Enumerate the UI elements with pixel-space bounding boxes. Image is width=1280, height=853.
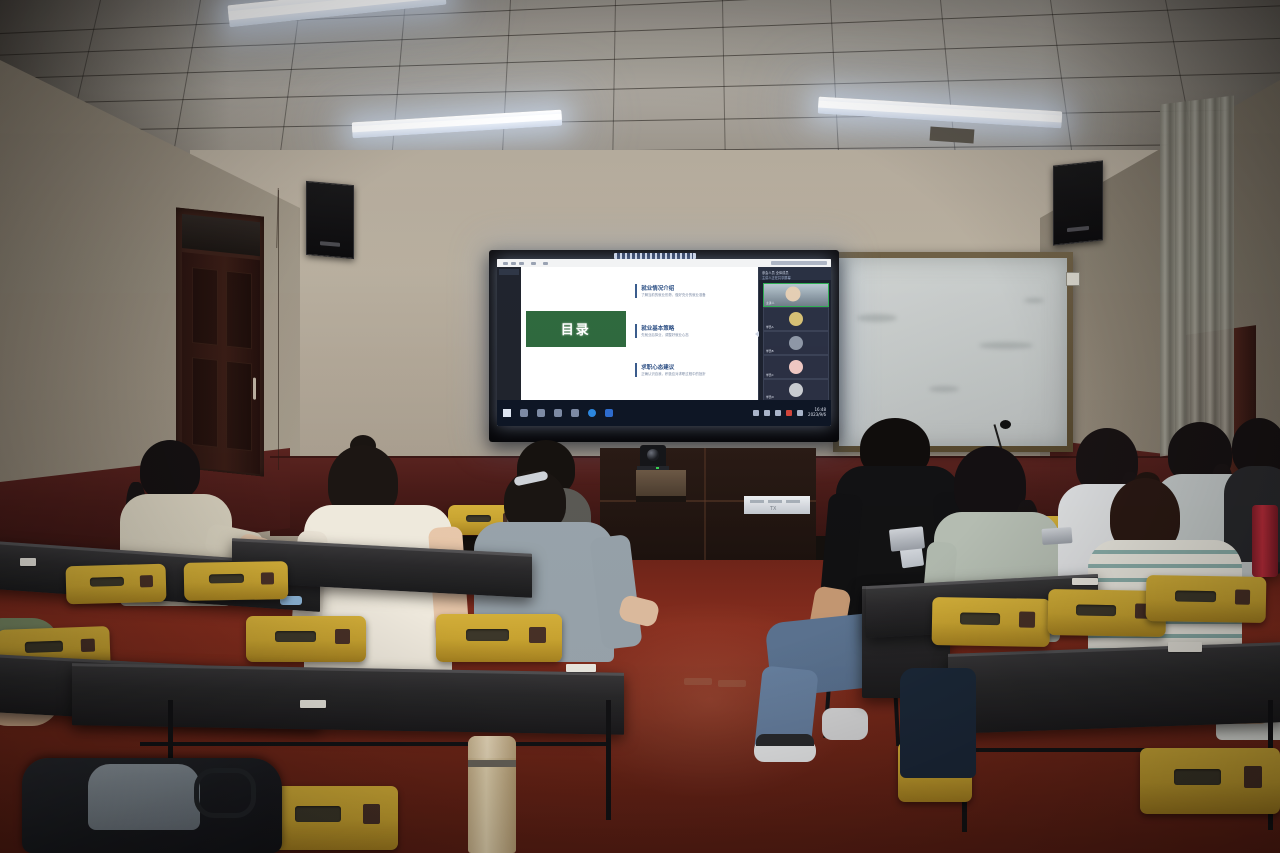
classroom-door[interactable] xyxy=(176,207,264,476)
chair-5[interactable] xyxy=(436,614,562,662)
ptz-conference-camera xyxy=(640,445,666,467)
paper-4 xyxy=(1168,642,1202,652)
toc-accent-bar xyxy=(635,324,637,338)
red-tumbler[interactable] xyxy=(1252,505,1278,577)
participant-tile-2[interactable]: 学员B xyxy=(763,331,829,355)
wall-speaker-right xyxy=(1053,160,1103,245)
desk-rail-1 xyxy=(140,742,610,746)
paper-1 xyxy=(20,558,36,566)
toc-heading-1: 就业情况介绍 xyxy=(641,284,674,292)
toc-sub-2: 先就业后择业，调整好就业心态 xyxy=(641,332,688,337)
search-icon[interactable] xyxy=(537,409,545,417)
wall-display[interactable]: 主讲人正在共享屏幕 目录 xyxy=(489,250,839,442)
chair-11[interactable] xyxy=(1140,748,1280,814)
slide-thumbnail-rail[interactable] xyxy=(497,267,521,400)
participant-tile-3[interactable]: 学员C xyxy=(763,355,829,379)
laptop-computer-2[interactable] xyxy=(1041,527,1072,545)
collapse-panel-chevron-icon[interactable] xyxy=(755,331,759,337)
floor-marking-1 xyxy=(684,678,712,685)
camera-status-led xyxy=(656,467,659,469)
whiteboard xyxy=(833,252,1073,452)
classroom-photo: 主讲人正在共享屏幕 目录 xyxy=(0,0,1280,853)
av-amplifier-shelf xyxy=(636,496,686,502)
cortana-icon[interactable] xyxy=(554,409,562,417)
chair-6[interactable] xyxy=(262,786,398,850)
camera-lens-icon xyxy=(647,449,659,461)
start-button-icon[interactable] xyxy=(503,409,511,417)
paper-3 xyxy=(566,664,596,672)
floor-marking-2 xyxy=(718,680,746,687)
participant-name-4: 学员D xyxy=(766,395,774,399)
participant-name-1: 学员A xyxy=(766,325,774,329)
video-meeting-panel[interactable]: 参会人员 全体成员 主讲人正在共享屏幕 主讲人 学员A 学员B xyxy=(758,267,831,400)
display-screen[interactable]: 目录 就业情况介绍 了解当前的就业形势，做好充分的就业准备 就业基本策略 先就业… xyxy=(497,259,831,426)
ceiling-light-3 xyxy=(818,97,1063,129)
chair-8[interactable] xyxy=(932,597,1051,647)
system-tray[interactable]: 16:48 2023/9/6 xyxy=(753,408,826,417)
toc-heading-3: 求职心态建议 xyxy=(641,363,674,371)
participant-tile-1[interactable]: 学员A xyxy=(763,307,829,331)
taskbar-clock[interactable]: 16:48 2023/9/6 xyxy=(808,408,826,417)
participant-tile-0[interactable]: 主讲人 xyxy=(763,283,829,307)
wall-speaker-left xyxy=(306,181,354,259)
back-arrow-icon[interactable] xyxy=(520,409,528,417)
desk-right-near xyxy=(948,642,1280,734)
presenter-sneaker-right xyxy=(822,708,868,740)
thermos-cap xyxy=(468,736,516,758)
participant-name-3: 学员C xyxy=(766,373,774,377)
door-transom-window xyxy=(182,214,260,256)
chair-1[interactable] xyxy=(66,564,167,605)
toc-sub-1: 了解当前的就业形势，做好充分的就业准备 xyxy=(641,292,705,297)
tray-notification-icon[interactable] xyxy=(786,410,792,416)
ceiling-vent xyxy=(930,126,975,143)
slide-title-box: 目录 xyxy=(526,311,626,347)
chair-4[interactable] xyxy=(246,616,366,662)
windows-taskbar[interactable]: 16:48 2023/9/6 xyxy=(497,400,831,426)
door-handle[interactable] xyxy=(253,377,256,399)
desk-leg-2 xyxy=(606,700,611,820)
participant-name-0: 主讲人 xyxy=(766,301,774,305)
tray-network-icon[interactable] xyxy=(764,410,770,416)
participant-tile-4[interactable]: 学员D xyxy=(763,379,829,401)
toc-accent-bar xyxy=(635,363,637,377)
laptop-computer[interactable] xyxy=(889,526,925,551)
slide-title-text: 目录 xyxy=(561,319,591,338)
chair-10[interactable] xyxy=(1146,575,1267,623)
toc-sub-3: 正确认识自我，积极应对求职过程中的挫折 xyxy=(641,371,705,376)
meeting-header-line2: 主讲人正在共享屏幕 xyxy=(762,275,791,280)
thermos-flask[interactable] xyxy=(468,736,516,853)
toc-heading-2: 就业基本策略 xyxy=(641,324,674,332)
chair-2[interactable] xyxy=(184,561,289,601)
presenter-sneaker-upper xyxy=(756,734,814,746)
browser-icon[interactable] xyxy=(588,409,596,417)
av-amplifier-unit xyxy=(636,470,686,496)
backpack-strap xyxy=(194,768,256,818)
tray-chevron-up-icon[interactable] xyxy=(753,410,759,416)
clock-date: 2023/9/6 xyxy=(808,412,826,417)
tray-battery-icon[interactable] xyxy=(797,410,803,416)
toc-accent-bar xyxy=(635,284,637,298)
ceiling-light-2 xyxy=(352,110,563,139)
white-av-switcher: TX xyxy=(744,496,810,514)
meeting-panel-header: 参会人员 全体成员 主讲人正在共享屏幕 xyxy=(759,267,831,280)
participant-name-2: 学员B xyxy=(766,349,774,353)
task-view-icon[interactable] xyxy=(571,409,579,417)
tray-volume-icon[interactable] xyxy=(775,410,781,416)
wall-switch-plate[interactable] xyxy=(1066,272,1080,286)
door-leaf[interactable] xyxy=(182,252,260,474)
explorer-icon[interactable] xyxy=(605,409,613,417)
switcher-label: TX xyxy=(770,506,776,512)
paper-2 xyxy=(300,700,326,708)
window-curtain[interactable] xyxy=(1160,95,1234,456)
paper-5 xyxy=(1072,578,1098,585)
desk-row2-mid xyxy=(72,663,624,735)
backpack-on-desk[interactable] xyxy=(22,758,282,853)
microphone-head xyxy=(1000,420,1011,429)
bag-under-desk[interactable] xyxy=(900,668,976,778)
wall-cable xyxy=(278,190,279,470)
slide-canvas: 目录 就业情况介绍 了解当前的就业形势，做好充分的就业准备 就业基本策略 先就业… xyxy=(521,267,759,400)
app-window-controls[interactable] xyxy=(771,261,827,265)
thermos-band xyxy=(468,760,516,767)
